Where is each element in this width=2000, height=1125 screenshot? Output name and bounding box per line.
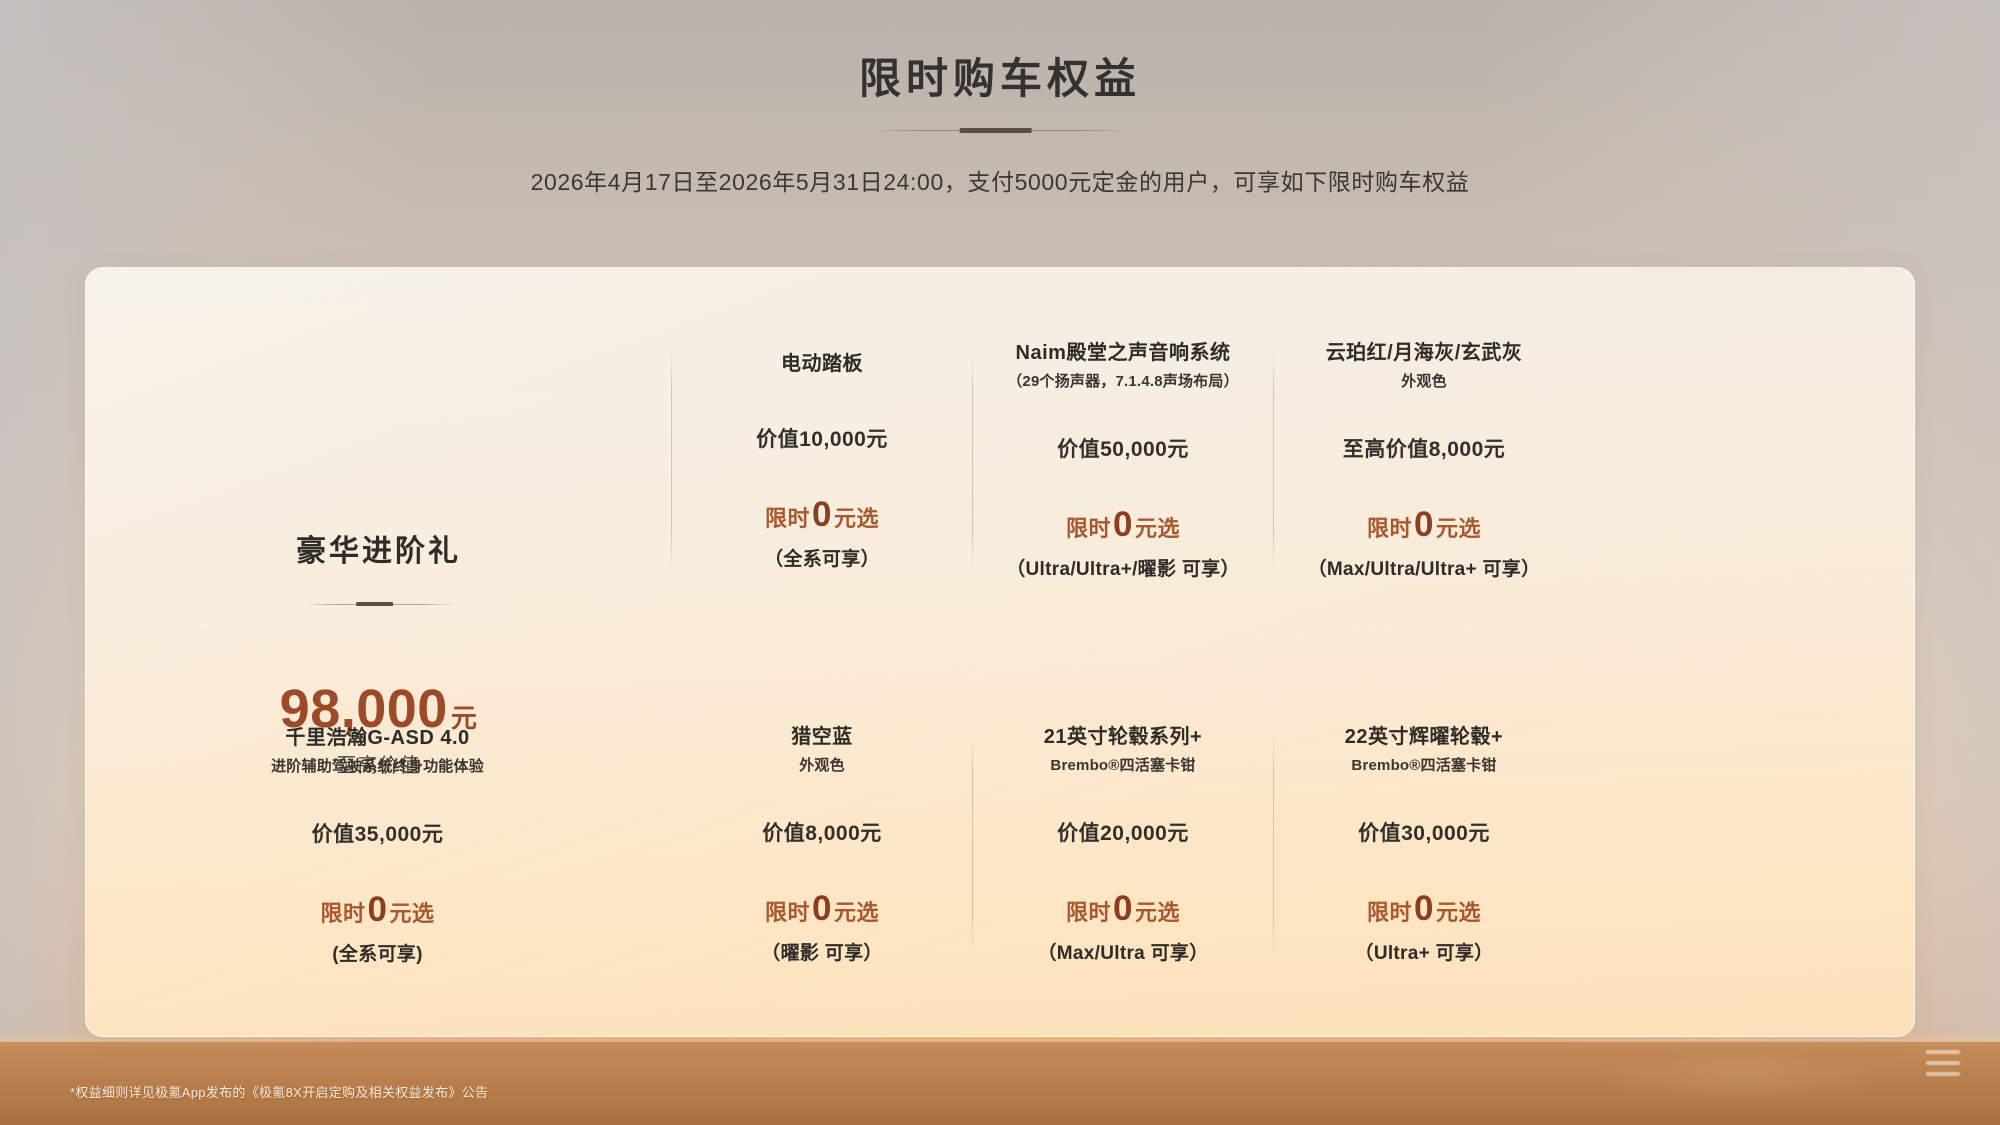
benefit-value: 价值8,000元	[762, 817, 882, 847]
benefit-free-prefix: 限时	[1367, 895, 1412, 927]
benefit-scope: （曜影 可享）	[761, 938, 882, 965]
benefit-free-zero: 0	[368, 892, 388, 927]
benefit-free-price: 限时 0 元选	[321, 892, 435, 928]
benefit-scope: （Max/Ultra 可享）	[1037, 938, 1208, 965]
benefit-scope: （Ultra/Ultra+/曜影 可享）	[1006, 554, 1240, 581]
title-divider-dash	[960, 128, 1032, 133]
benefit-title: 21英寸轮毂系列+	[1044, 723, 1202, 752]
benefit-free-prefix: 限时	[765, 895, 810, 927]
watermark-bars-icon	[1926, 1043, 1960, 1083]
page-header: 限时购车权益 2026年4月17日至2026年5月31日24:00，支付5000…	[0, 54, 2000, 197]
benefit-title: Naim殿堂之声音响系统	[1016, 339, 1231, 368]
benefit-title: 电动踏板	[781, 350, 863, 379]
benefit-cell: 云珀红/月海灰/玄武灰 外观色 至高价值8,000元 限时 0 元选 （Max/…	[1274, 268, 1574, 652]
benefit-scope: (全系可享)	[332, 939, 422, 966]
benefit-note: （29个扬声器，7.1.4.8声场布局）	[1007, 370, 1239, 391]
benefit-cell: 千里浩瀚G-ASD 4.0 进阶辅助驾驶系统终身功能体验 价值35,000元 限…	[85, 652, 670, 1037]
benefit-title: 22英寸辉曜轮毂+	[1345, 723, 1503, 752]
footnote-text: *权益细则详见极氪App发布的《极氪8X开启定购及相关权益发布》公告	[70, 1082, 488, 1101]
benefit-free-suffix: 元选	[1436, 511, 1481, 543]
benefit-free-zero: 0	[1113, 507, 1133, 542]
benefit-title: 猎空蓝	[791, 723, 853, 752]
benefit-cell: 21英寸轮毂系列+ Brembo®四活塞卡钳 价值20,000元 限时 0 元选…	[973, 652, 1273, 1036]
benefit-free-price: 限时 0 元选	[1367, 891, 1481, 927]
benefit-value: 价值10,000元	[756, 423, 888, 453]
benefit-free-zero: 0	[1414, 507, 1434, 542]
title-divider	[872, 126, 1128, 136]
benefit-free-suffix: 元选	[1135, 511, 1180, 543]
benefit-cell: 猎空蓝 外观色 价值8,000元 限时 0 元选 （曜影 可享）	[672, 652, 972, 1036]
hero-divider	[304, 601, 454, 609]
benefit-free-prefix: 限时	[1367, 511, 1412, 543]
benefit-value: 价值20,000元	[1057, 817, 1189, 847]
benefit-note: 外观色	[799, 754, 845, 775]
benefit-value: 至高价值8,000元	[1343, 433, 1506, 463]
benefit-free-zero: 0	[1414, 891, 1434, 926]
benefit-title: 云珀红/月海灰/玄武灰	[1326, 339, 1523, 368]
benefit-value: 价值50,000元	[1057, 433, 1189, 463]
benefit-free-prefix: 限时	[1066, 895, 1111, 927]
benefit-value: 价值30,000元	[1358, 817, 1490, 847]
benefit-free-suffix: 元选	[389, 896, 434, 928]
benefit-free-price: 限时 0 元选	[1066, 891, 1180, 927]
watermark-blur	[1516, 1037, 1966, 1115]
page-title: 限时购车权益	[0, 54, 2000, 104]
page-subtitle: 2026年4月17日至2026年5月31日24:00，支付5000元定金的用户，…	[0, 163, 2000, 197]
benefit-value: 价值35,000元	[312, 818, 444, 848]
benefit-scope: （全系可享）	[764, 544, 880, 571]
benefit-note: Brembo®四活塞卡钳	[1351, 754, 1496, 775]
benefit-cell: 22英寸辉曜轮毂+ Brembo®四活塞卡钳 价值30,000元 限时 0 元选…	[1274, 652, 1574, 1036]
benefit-free-price: 限时 0 元选	[765, 497, 879, 533]
benefit-scope: （Max/Ultra/Ultra+ 可享）	[1308, 554, 1541, 581]
hero-divider-dash	[356, 602, 393, 606]
benefit-free-zero: 0	[812, 891, 832, 926]
benefit-free-suffix: 元选	[1135, 895, 1180, 927]
benefit-free-suffix: 元选	[834, 895, 879, 927]
benefit-free-zero: 0	[812, 497, 832, 532]
benefit-free-price: 限时 0 元选	[1066, 507, 1180, 543]
benefit-free-prefix: 限时	[765, 501, 810, 533]
benefit-free-suffix: 元选	[1436, 895, 1481, 927]
benefit-free-price: 限时 0 元选	[765, 891, 879, 927]
benefit-free-price: 限时 0 元选	[1367, 507, 1481, 543]
benefit-note: 外观色	[1401, 370, 1447, 391]
benefit-note: Brembo®四活塞卡钳	[1050, 754, 1195, 775]
benefit-free-prefix: 限时	[1066, 511, 1111, 543]
benefit-cell: 电动踏板 价值10,000元 限时 0 元选 （全系可享）	[672, 268, 972, 652]
benefit-note: 进阶辅助驾驶系统终身功能体验	[271, 755, 484, 776]
benefit-cell: Naim殿堂之声音响系统 （29个扬声器，7.1.4.8声场布局） 价值50,0…	[973, 268, 1273, 652]
benefit-free-suffix: 元选	[834, 501, 879, 533]
benefit-free-zero: 0	[1113, 891, 1133, 926]
hero-title: 豪华进阶礼	[296, 526, 461, 570]
benefit-free-prefix: 限时	[321, 896, 366, 928]
benefit-title: 千里浩瀚G-ASD 4.0	[285, 724, 469, 753]
benefit-scope: （Ultra+ 可享）	[1355, 938, 1494, 965]
